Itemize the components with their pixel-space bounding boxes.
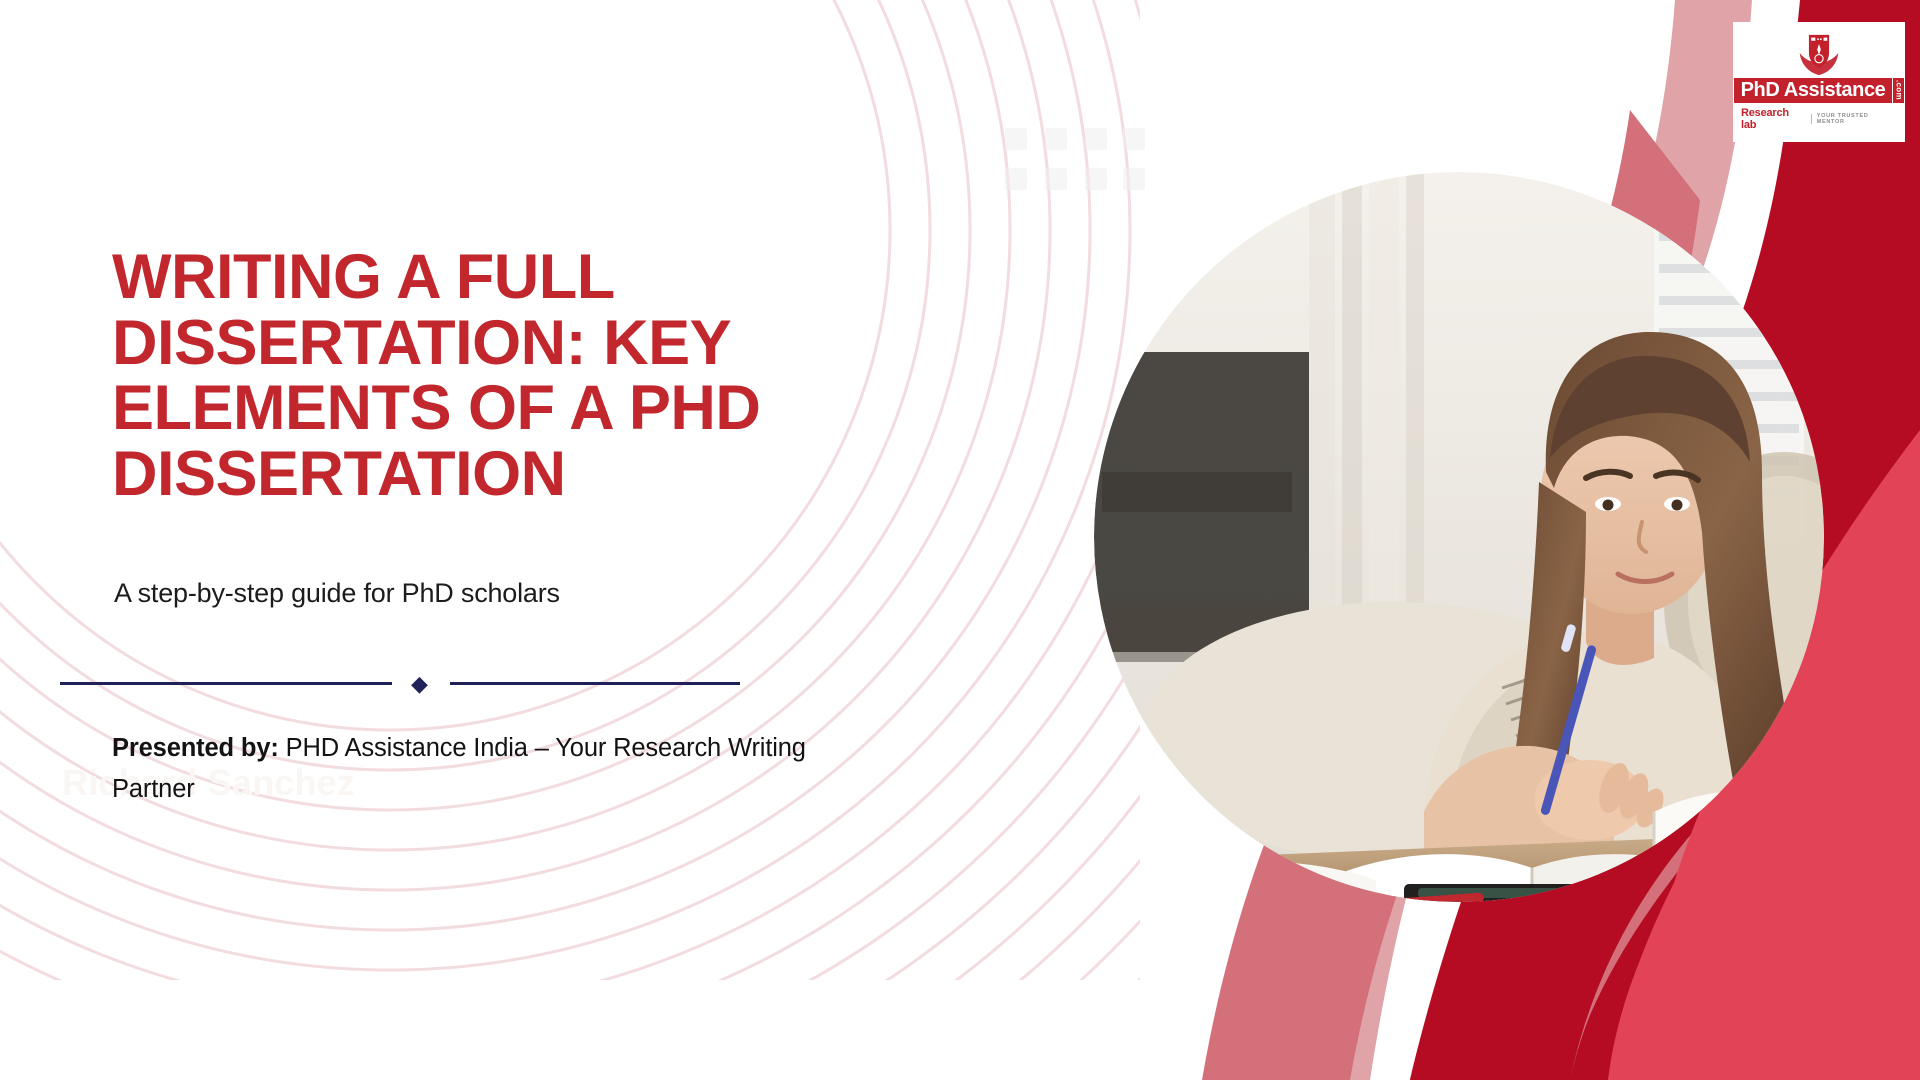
divider: ◆ — [60, 672, 800, 694]
logo-domain-text: .com — [1893, 78, 1904, 103]
logo-brand-text: PhD Assistance — [1734, 78, 1893, 103]
logo-tagline-text: YOUR TRUSTED MENTOR — [1817, 113, 1897, 125]
divider-line-right — [450, 682, 740, 685]
diamond-icon: ◆ — [410, 674, 429, 693]
logo-research-lab-text: Research lab — [1741, 107, 1806, 131]
photo-content-icon — [1094, 172, 1824, 902]
logo-subtitle-row: Research lab YOUR TRUSTED MENTOR — [1741, 107, 1897, 131]
logo-wordmark: PhD Assistance .com — [1734, 78, 1905, 103]
student-photo — [1094, 172, 1824, 902]
logo-divider — [1811, 114, 1812, 124]
slide-subtitle: A step-by-step guide for PhD scholars — [114, 578, 560, 609]
presented-by-label: Presented by: — [112, 734, 279, 762]
presenter-line: Presented by: PHD Assistance India – You… — [112, 728, 852, 811]
page-title: WRITING A FULL DISSERTATION: KEY ELEMENT… — [112, 245, 902, 507]
brand-logo[interactable]: PhD Assistance .com Research lab YOUR TR… — [1733, 22, 1905, 142]
shield-crest-icon — [1796, 33, 1842, 77]
slide-text-content: WRITING A FULL DISSERTATION: KEY ELEMENT… — [112, 0, 872, 1080]
divider-line-left — [60, 682, 392, 685]
presentation-slide: PhD Assistance .com Research lab YOUR TR… — [0, 0, 1920, 1080]
